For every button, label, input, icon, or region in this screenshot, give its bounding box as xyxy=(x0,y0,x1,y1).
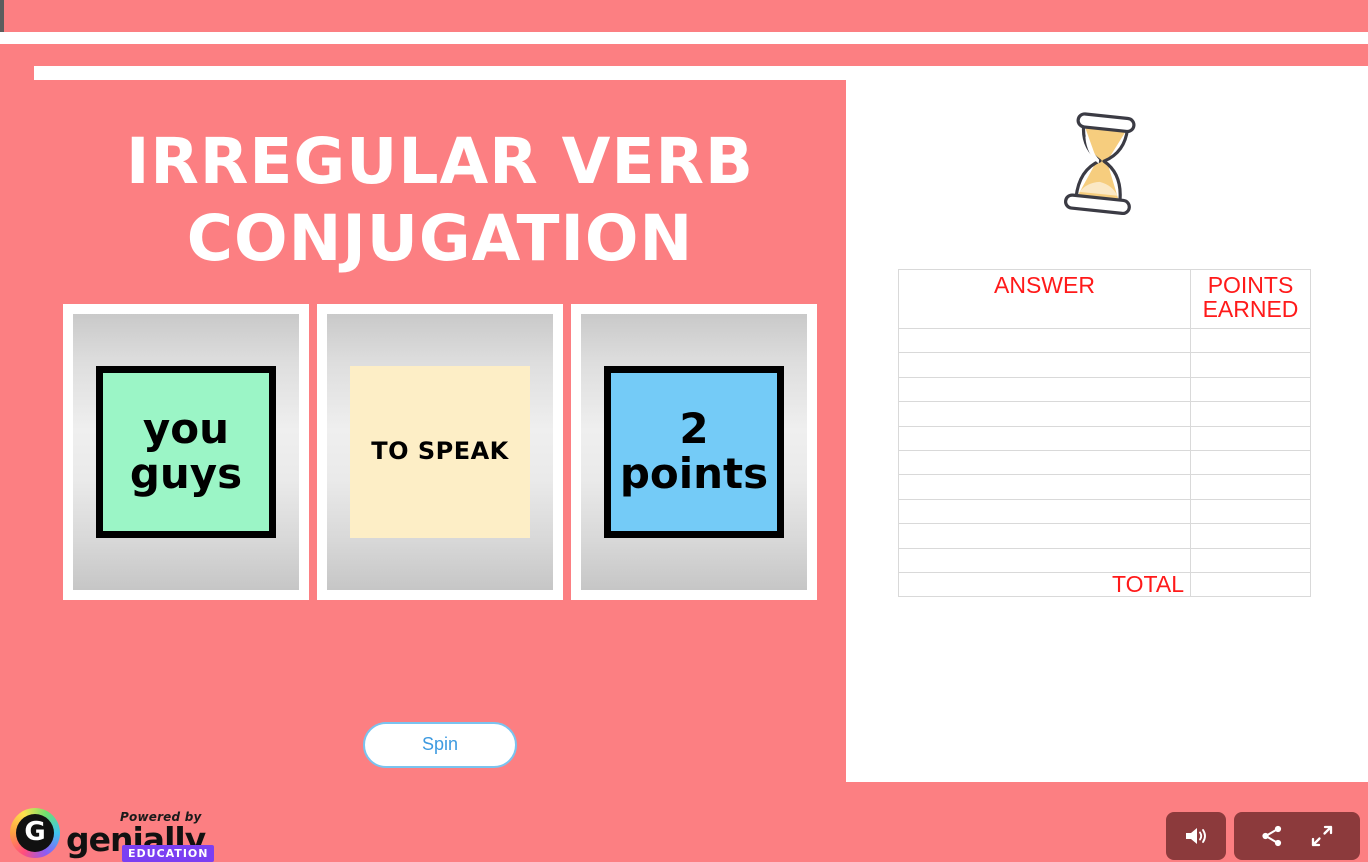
score-table-head: ANSWER POINTS EARNED xyxy=(899,270,1311,329)
game-panel: IRREGULAR VERB CONJUGATION you guys TO S… xyxy=(34,80,846,782)
genially-logo[interactable]: G Powered by genially EDUCATION xyxy=(10,808,205,858)
points-cell[interactable] xyxy=(1191,475,1311,499)
slide-content-panel: IRREGULAR VERB CONJUGATION you guys TO S… xyxy=(34,66,1368,782)
fullscreen-icon xyxy=(1310,824,1334,848)
points-cell[interactable] xyxy=(1191,524,1311,548)
table-row[interactable] xyxy=(899,475,1311,499)
pronoun-card-frame: you guys xyxy=(73,314,299,590)
column-header-answer: ANSWER xyxy=(899,270,1191,329)
total-row: TOTAL xyxy=(899,572,1311,596)
table-row[interactable] xyxy=(899,377,1311,401)
answer-cell[interactable] xyxy=(899,499,1191,523)
share-button[interactable] xyxy=(1260,824,1284,848)
verb-card-frame: TO SPEAK xyxy=(327,314,553,590)
points-cell[interactable] xyxy=(1191,377,1311,401)
answer-cell[interactable] xyxy=(899,377,1191,401)
table-row[interactable] xyxy=(899,329,1311,353)
points-cell[interactable] xyxy=(1191,426,1311,450)
genially-mark-icon: G xyxy=(10,808,60,858)
points-card-frame: 2 points xyxy=(581,314,807,590)
answer-cell[interactable] xyxy=(899,548,1191,572)
points-card-face: 2 points xyxy=(604,366,784,538)
answer-cell[interactable] xyxy=(899,524,1191,548)
score-table-header-row: ANSWER POINTS EARNED xyxy=(899,270,1311,329)
answer-cell[interactable] xyxy=(899,475,1191,499)
share-and-fullscreen-group xyxy=(1234,812,1360,860)
spin-button[interactable]: Spin xyxy=(363,722,517,768)
presentation-stage: IRREGULAR VERB CONJUGATION you guys TO S… xyxy=(0,0,1368,862)
verb-card[interactable]: TO SPEAK xyxy=(317,304,563,600)
points-cell[interactable] xyxy=(1191,450,1311,474)
powered-by-label: Powered by xyxy=(120,810,202,824)
points-cell[interactable] xyxy=(1191,499,1311,523)
genially-g-glyph: G xyxy=(16,814,54,852)
hourglass-icon xyxy=(1054,106,1150,216)
table-row[interactable] xyxy=(899,499,1311,523)
points-card[interactable]: 2 points xyxy=(571,304,817,600)
pronoun-card-face: you guys xyxy=(96,366,276,538)
toolbar xyxy=(1166,812,1360,860)
answer-cell[interactable] xyxy=(899,402,1191,426)
fullscreen-button[interactable] xyxy=(1310,824,1334,848)
points-cell[interactable] xyxy=(1191,548,1311,572)
table-row[interactable] xyxy=(899,524,1311,548)
volume-icon xyxy=(1183,824,1209,848)
table-row[interactable] xyxy=(899,450,1311,474)
answer-cell[interactable] xyxy=(899,450,1191,474)
spin-button-row: Spin xyxy=(34,722,846,768)
genially-wordmark: Powered by genially EDUCATION xyxy=(64,811,205,856)
frame-white-gap xyxy=(0,32,1368,44)
points-cell[interactable] xyxy=(1191,402,1311,426)
volume-button[interactable] xyxy=(1166,812,1226,860)
pronoun-card[interactable]: you guys xyxy=(63,304,309,600)
slot-cards-row: you guys TO SPEAK 2 points xyxy=(34,304,846,600)
answer-cell[interactable] xyxy=(899,329,1191,353)
scoreboard-panel: ANSWER POINTS EARNED xyxy=(846,66,1368,782)
table-row[interactable] xyxy=(899,548,1311,572)
education-badge: EDUCATION xyxy=(122,845,214,862)
total-value-cell[interactable] xyxy=(1191,572,1311,596)
table-row[interactable] xyxy=(899,402,1311,426)
score-table-body: TOTAL xyxy=(899,329,1311,597)
score-table: ANSWER POINTS EARNED xyxy=(898,269,1311,597)
column-header-points-earned: POINTS EARNED xyxy=(1191,270,1311,329)
points-cell[interactable] xyxy=(1191,329,1311,353)
answer-cell[interactable] xyxy=(899,353,1191,377)
table-row[interactable] xyxy=(899,426,1311,450)
share-icon xyxy=(1260,824,1284,848)
answer-cell[interactable] xyxy=(899,426,1191,450)
left-edge-sliver xyxy=(0,0,4,32)
total-label: TOTAL xyxy=(899,572,1191,596)
page-title: IRREGULAR VERB CONJUGATION xyxy=(34,124,846,278)
verb-card-face: TO SPEAK xyxy=(350,366,530,538)
table-row[interactable] xyxy=(899,353,1311,377)
points-cell[interactable] xyxy=(1191,353,1311,377)
bottom-bar: G Powered by genially EDUCATION xyxy=(0,804,1368,862)
